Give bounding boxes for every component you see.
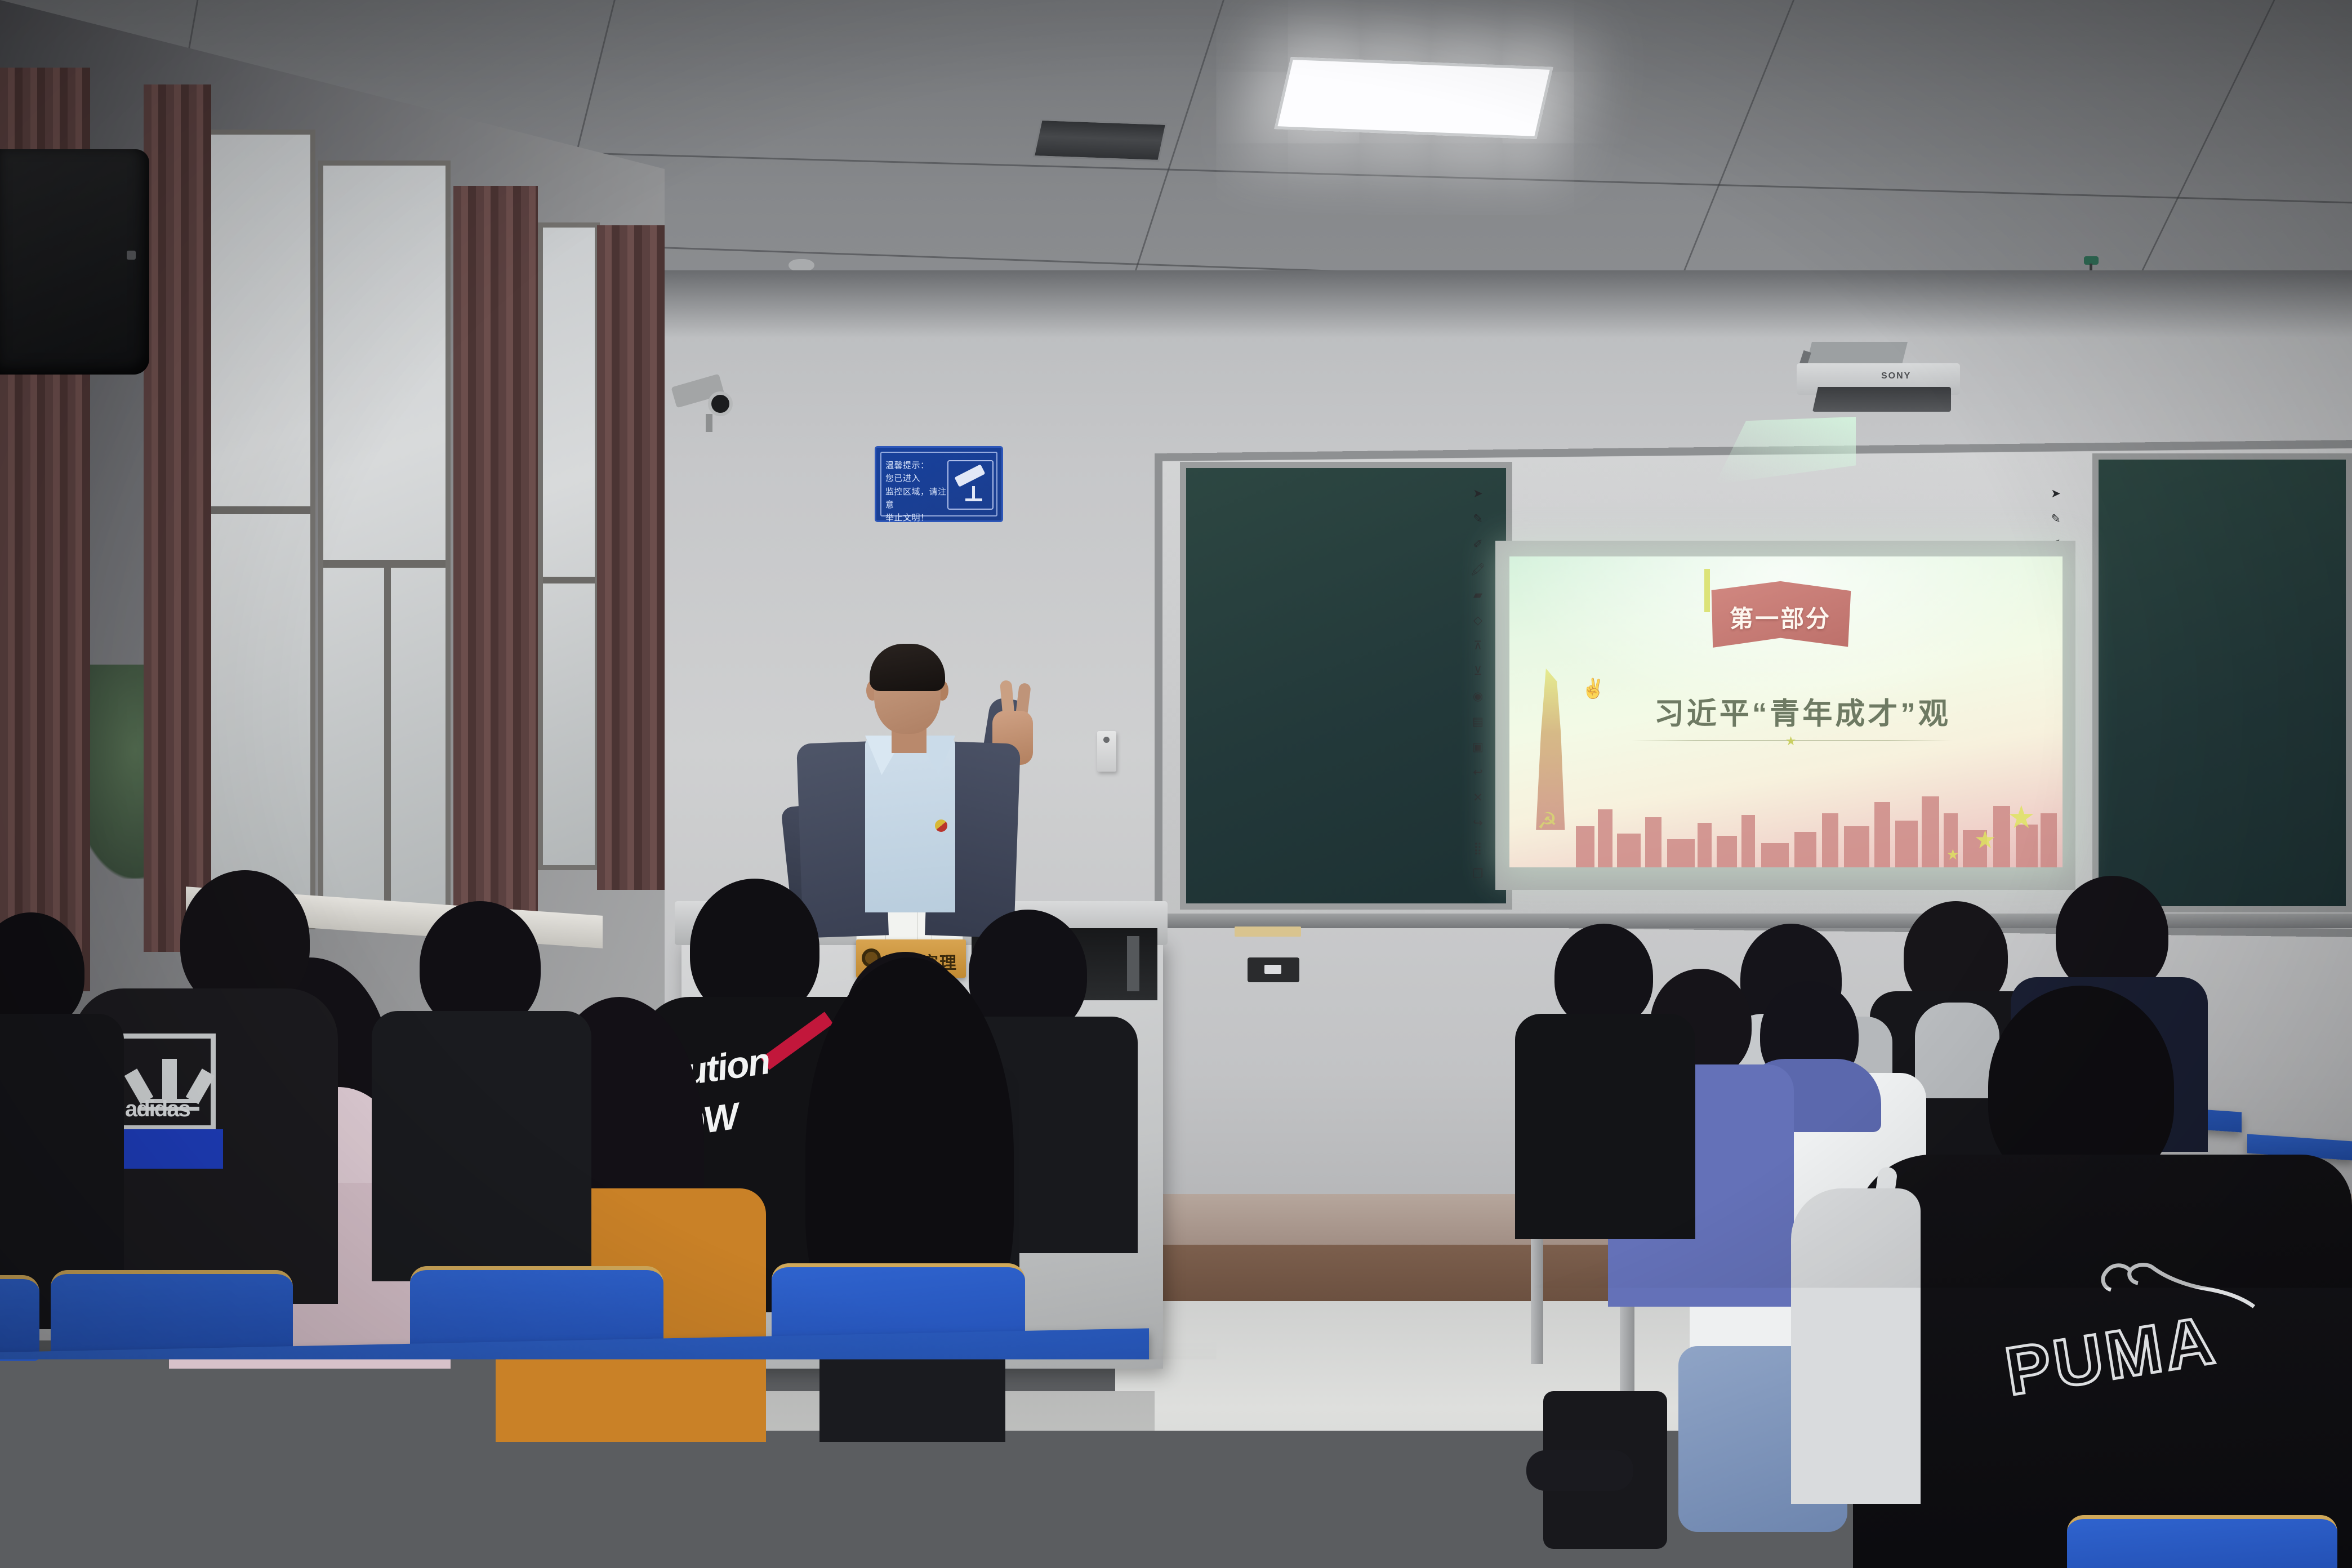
cursor-icon[interactable]: ➤ <box>2047 485 2064 502</box>
pen-thin-icon[interactable]: ✐ <box>1469 536 1486 553</box>
adidas-wordmark: adidas <box>125 1097 190 1122</box>
sony-projector: SONY <box>1797 363 1960 417</box>
window-pane-3 <box>538 222 600 870</box>
dove-icon: ✌ <box>1582 678 1605 700</box>
star-icon: ★ <box>1974 826 1996 854</box>
arrow-down-icon[interactable]: ⊻ <box>1469 663 1486 680</box>
air-vent-icon <box>1033 119 1168 162</box>
puma-cat-icon <box>2095 1256 2259 1310</box>
chair-back <box>614 1524 873 1568</box>
chair-back <box>51 1270 293 1358</box>
eraser-icon[interactable]: ▰ <box>1469 587 1486 604</box>
undo-icon[interactable]: ↩ <box>1469 764 1486 781</box>
cctv-camera-icon <box>673 375 741 434</box>
sign-line-1: 您已进入 <box>885 472 947 485</box>
board-rail <box>1155 914 2352 928</box>
window-pane-2 <box>318 161 451 910</box>
sign-title: 温馨提示： <box>885 459 947 472</box>
pen-icon[interactable]: ✎ <box>1469 511 1486 528</box>
hammer-sickle-icon: ☭ <box>1537 808 1582 858</box>
sign-line-3: 举止文明！ <box>885 511 947 524</box>
screens-icon[interactable]: ❐ <box>1469 866 1486 883</box>
city-skyline-graphic: ★ ★ ★ <box>1509 774 2063 867</box>
pen-icon[interactable]: ✎ <box>2047 511 2064 528</box>
star-icon: ★ <box>1785 734 1797 749</box>
curtain-left-4 <box>597 225 665 890</box>
highlighter-icon[interactable]: 🖍 <box>1469 562 1486 578</box>
chair-back <box>79 1521 338 1568</box>
adidas-trefoil-icon: adidas <box>115 1034 216 1130</box>
light-switch-icon[interactable] <box>1097 731 1116 772</box>
chalkboard-right <box>2092 453 2352 912</box>
projector-lens-hood <box>1812 387 1951 412</box>
curtain-left-3 <box>453 186 538 924</box>
party-emblem-pin <box>935 819 947 832</box>
smartboard-toolbar-left[interactable]: ➤✎✐🖍▰◇⊼⊻◉▤▣↩✕↪⣿❐ <box>1466 485 1491 902</box>
sign-line-2: 监控区域，请注意 <box>885 485 947 512</box>
arrow-up-icon[interactable]: ⊼ <box>1469 638 1486 654</box>
projector-brand-label: SONY <box>1881 371 1911 381</box>
window-pane-1 <box>203 130 315 929</box>
hood-white <box>1791 1188 1921 1504</box>
wall-speaker-icon <box>0 149 149 375</box>
window-icon[interactable]: ▣ <box>1469 739 1486 756</box>
palette-icon[interactable]: ◉ <box>1469 688 1486 705</box>
slide-title: 习近平“青年成才”观 <box>1631 690 1974 733</box>
projected-slide: 第一部分 ✌ 习近平“青年成才”观 ★ ★ <box>1509 556 2063 867</box>
chair-back <box>0 1275 39 1361</box>
projector-mount <box>1806 342 1908 364</box>
slide-divider: ★ <box>1631 740 1952 741</box>
star-icon: ★ <box>1946 846 1959 863</box>
ir-receiver-box <box>1248 957 1299 982</box>
cctv-camera-icon <box>947 460 994 510</box>
slide-section-badge: 第一部分 <box>1709 600 1852 634</box>
keyboard-icon[interactable]: ▤ <box>1469 714 1486 730</box>
smoke-detector-icon <box>789 259 814 271</box>
chalk-tray <box>1235 926 1301 937</box>
cctv-warning-sign: 温馨提示： 您已进入 监控区域，请注意 举止文明！ <box>875 446 1003 522</box>
chalkboard-left <box>1180 462 1512 910</box>
jacket-blue-band <box>110 1129 223 1169</box>
grid-icon[interactable]: ⣿ <box>1469 840 1486 857</box>
shape-icon[interactable]: ◇ <box>1469 612 1486 629</box>
close-icon[interactable]: ✕ <box>1469 790 1486 807</box>
chair-back <box>2067 1515 2337 1568</box>
sneaker <box>1526 1450 1633 1491</box>
classroom-photo: 温馨提示： 您已进入 监控区域，请注意 举止文明！ ➤✎✐🖍▰◇⊼⊻◉▤▣↩✕↪… <box>0 0 2352 1568</box>
redo-icon[interactable]: ↪ <box>1469 815 1486 832</box>
led-panel-light <box>1274 57 1553 139</box>
curtain-left-2 <box>144 84 211 952</box>
cursor-icon[interactable]: ➤ <box>1469 485 1486 502</box>
star-icon: ★ <box>2007 799 2035 836</box>
